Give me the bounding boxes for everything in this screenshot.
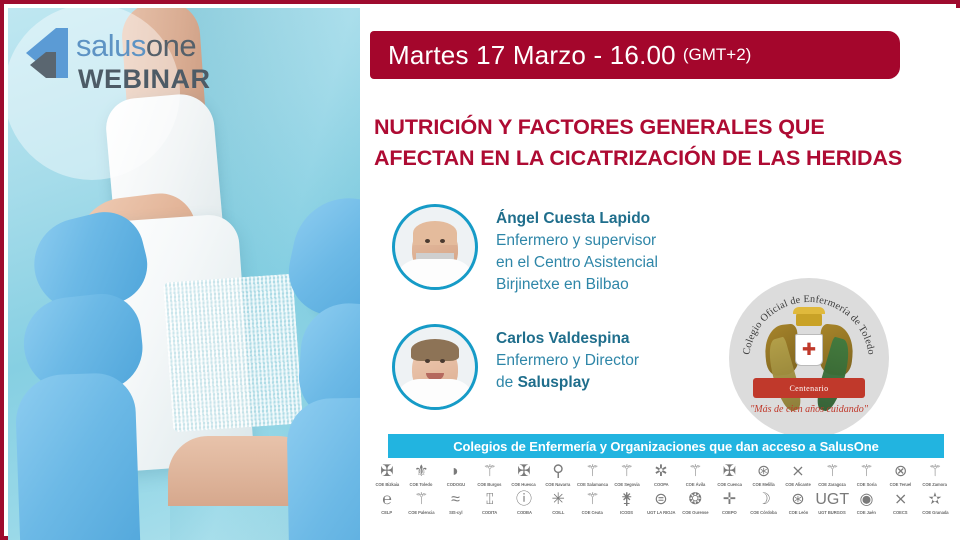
partner-emblem-icon: ❂ [684,490,706,510]
partner-emblem-icon: ⚚ [582,490,604,510]
partner-emblem-icon: ◗ [445,462,467,482]
hero-photo: salusone WEBINAR [8,8,360,540]
partner-emblem-icon: ⚚ [616,462,638,482]
logo-word-salus: salus [76,28,146,63]
partner-emblem-icon: ⚚ [582,462,604,482]
partner-emblem-icon: ⚚ [821,462,843,482]
partner-emblem-icon: ⑄ [479,490,501,510]
gauze-strip [163,274,303,433]
organizations-bar: Colegios de Enfermería y Organizaciones … [388,434,944,458]
partner-logo-label: COE Palencia [408,511,434,516]
partner-emblem-icon: ⓘ [513,490,535,510]
partner-logo-label: COE Segovia [614,483,639,488]
partner-logo-coe-navarra: ⚲COE Navarra [543,462,573,487]
partner-logo-ugt-la-rioja: ⊜UGT LA RIOJA [646,490,676,515]
speaker-role-prefix: de [496,374,518,391]
partner-logo-coe-alicante: ⨯COE Alicante [783,462,813,487]
logo-word-one: one [146,28,196,63]
speaker-info: Carlos Valdespina Enfermero y Director d… [496,324,639,394]
partner-logo-label: COECS [894,511,908,516]
partner-logo-label: COE Jaén [857,511,876,516]
partner-logo-ugt-burgos: UGTUGT BURGOS [817,490,847,515]
partner-logo-coepo: ✛COEPO [715,490,745,515]
partner-emblem-icon: ⊗ [890,462,912,482]
partner-logo-coe-bizkaia: ✠COE Bizkaia [372,462,402,487]
seal-ribbon-label: Centenario [789,384,828,393]
partner-logo-label: COE Zamora [923,483,947,488]
partner-logo-codba: ⓘCODBA [509,490,539,515]
partner-emblem-icon: ◉ [856,490,878,510]
partner-emblem-icon: ⚚ [479,462,501,482]
partner-logo-coe-palencia: ⚚COE Palencia [406,490,436,515]
partner-emblem-icon: ℮ [376,490,398,510]
partner-logo-label: COE Melilla [753,483,775,488]
partner-logo-label: COE Ávila [686,483,705,488]
date-text: Martes 17 Marzo - 16.00 [388,40,676,71]
partner-logo-label: COE Burgos [478,483,502,488]
partner-logo-label: SIS-cyl [449,511,462,516]
partner-logo-icods: ⚵ICODS [612,490,642,515]
content-panel: Martes 17 Marzo - 16.00 (GMT+2) NUTRICIÓ… [360,8,960,540]
webinar-poster: salusone WEBINAR Martes 17 Marzo - 16.00… [0,0,960,540]
partner-logo-celp: ℮CELP [372,490,402,515]
partner-logo-coe-ja-n: ◉COE Jaén [852,490,882,515]
partner-logo-label: COE Alicante [785,483,810,488]
partner-emblem-icon: ⚲ [547,462,569,482]
partner-logo-label: COE Cuenca [717,483,741,488]
speaker-role-line-1: Enfermero y Director [496,350,639,372]
partner-logo-label: CELP [382,511,393,516]
partner-logo-coe-huesca: ✠COE Huesca [509,462,539,487]
page-title: NUTRICIÓN Y FACTORES GENERALES QUE AFECT… [374,112,954,173]
title-line-1: NUTRICIÓN Y FACTORES GENERALES QUE [374,112,954,143]
partner-logo-coe-cuenca: ✠COE Cuenca [715,462,745,487]
organizations-bar-label: Colegios de Enfermería y Organizaciones … [453,439,879,454]
partner-logo-label: CODOGU [446,483,464,488]
partner-emblem-icon: ⊛ [753,462,775,482]
partner-logo-label: COE Teruel [890,483,912,488]
partner-logo-label: COE León [788,511,808,516]
partner-logo-codita: ⑄CODITA [475,490,505,515]
partner-logo-label: COE Ceuta [582,511,603,516]
partner-logo-label: COE Zaragoza [818,483,846,488]
date-banner: Martes 17 Marzo - 16.00 (GMT+2) [370,31,900,79]
speaker-name: Carlos Valdespina [496,328,639,350]
partner-logo-label: COE Bizkaia [375,483,399,488]
shield-icon: ✚ [795,334,823,366]
partner-logo-grid: ✠COE Bizkaia⚜COE Toledo◗CODOGU⚚COE Burgo… [368,462,954,518]
speaker-role-line-1: Enfermero y supervisor [496,230,658,252]
partner-logo-label: UGT BURGOS [819,511,846,516]
partner-logo-label: COEPO [722,511,737,516]
partner-logo-row-2: ℮CELP⚚COE Palencia≈SIS-cyl⑄CODITAⓘCODBA✳… [368,490,954,515]
partner-emblem-icon: ⚚ [684,462,706,482]
partner-logo-label: COE Córdoba [751,511,777,516]
partner-logo-coe-vila: ⚚COE Ávila [680,462,710,487]
partner-logo-coe-zamora: ⚚COE Zamora [920,462,950,487]
partner-logo-label: COE Huesca [512,483,536,488]
logo-webinar-label: WEBINAR [78,66,211,93]
partner-logo-label: CODITA [482,511,497,516]
partner-emblem-icon: ✫ [924,490,946,510]
partner-logo-coe-toledo: ⚜COE Toledo [406,462,436,487]
timezone-text: (GMT+2) [683,45,751,65]
partner-logo-row-1: ✠COE Bizkaia⚜COE Toledo◗CODOGU⚚COE Burgo… [368,462,954,487]
partner-logo-label: COE Toledo [410,483,433,488]
partner-emblem-icon: ⊜ [650,490,672,510]
partner-emblem-icon: ✲ [650,462,672,482]
glove-right-hand [286,397,360,540]
partner-logo-label: COE Granada [922,511,948,516]
partner-logo-coe-segovia: ⚚COE Segovia [612,462,642,487]
partner-logo-coill: ✳COILL [543,490,573,515]
crown-icon [796,312,822,326]
partner-emblem-icon: ✠ [719,462,741,482]
partner-logo-label: CODBA [517,511,532,516]
partner-logo-codogu: ◗CODOGU [441,462,471,487]
partner-logo-coe-melilla: ⊛COE Melilla [749,462,779,487]
speaker-card-1: Ángel Cuesta Lapido Enfermero y supervis… [392,204,658,296]
partner-emblem-icon: ⚜ [410,462,432,482]
toledo-nursing-seal: Colegio Oficial de Enfermería de Toledo … [729,278,889,438]
speaker-role-line-3: Birjinetxe en Bilbao [496,274,658,296]
logo-wordmark: salusone [76,30,196,61]
speaker-role-line-2: de Salusplay [496,372,639,394]
speaker-company: Salusplay [518,374,590,391]
partner-logo-label: COE Navarra [546,483,571,488]
partner-logo-coe-c-rdoba: ☽COE Córdoba [749,490,779,515]
partner-logo-label: COE Soria [857,483,877,488]
partner-logo-coe-teruel: ⊗COE Teruel [886,462,916,487]
partner-logo-label: COILL [552,511,564,516]
seal-motto: "Más de cien años cuidando" [729,404,889,415]
partner-emblem-icon: ✛ [719,490,741,510]
partner-logo-coecs: ⨯COECS [886,490,916,515]
glove-left-hand [14,372,141,540]
partner-emblem-icon: ≈ [445,490,467,510]
partner-logo-coe-ceuta: ⚚COE Ceuta [578,490,608,515]
partner-logo-label: ICODS [620,511,633,516]
partner-emblem-icon: UGT [821,490,843,510]
partner-emblem-icon: ⚚ [410,490,432,510]
speaker-name: Ángel Cuesta Lapido [496,208,658,230]
partner-logo-label: COOPA [654,483,669,488]
partner-emblem-icon: ⚵ [616,490,638,510]
avatar [392,324,478,410]
partner-emblem-icon: ⚚ [856,462,878,482]
partner-logo-coe-burgos: ⚚COE Burgos [475,462,505,487]
salusone-mark-icon [26,28,72,78]
partner-logo-coe-soria: ⚚COE Soria [852,462,882,487]
avatar [392,204,478,290]
partner-logo-coe-le-n: ⊛COE León [783,490,813,515]
salusone-logo: salusone WEBINAR [18,22,218,104]
seal-ribbon: Centenario [753,378,865,398]
cross-icon: ✚ [800,341,818,359]
partner-logo-coe-zaragoza: ⚚COE Zaragoza [817,462,847,487]
speaker-role-line-2: en el Centro Asistencial [496,252,658,274]
partner-logo-label: UGT LA RIOJA [647,511,675,516]
partner-logo-coe-ourense: ❂COE Ourense [680,490,710,515]
partner-logo-coe-salamanca: ⚚COE Salamanca [578,462,608,487]
partner-emblem-icon: ☽ [753,490,775,510]
partner-logo-label: COE Salamanca [577,483,608,488]
partner-logo-coe-granada: ✫COE Granada [920,490,950,515]
partner-emblem-icon: ⊛ [787,490,809,510]
speaker-card-2: Carlos Valdespina Enfermero y Director d… [392,324,639,410]
partner-emblem-icon: ✳ [547,490,569,510]
speaker-info: Ángel Cuesta Lapido Enfermero y supervis… [496,204,658,296]
partner-emblem-icon: ⚚ [924,462,946,482]
partner-logo-coopa: ✲COOPA [646,462,676,487]
partner-logo-sis-cyl: ≈SIS-cyl [441,490,471,515]
partner-emblem-icon: ✠ [513,462,535,482]
partner-logo-label: COE Ourense [682,511,708,516]
partner-emblem-icon: ⨯ [890,490,912,510]
title-line-2: AFECTAN EN LA CICATRIZACIÓN DE LAS HERID… [374,143,954,174]
partner-emblem-icon: ✠ [376,462,398,482]
partner-emblem-icon: ⨯ [787,462,809,482]
